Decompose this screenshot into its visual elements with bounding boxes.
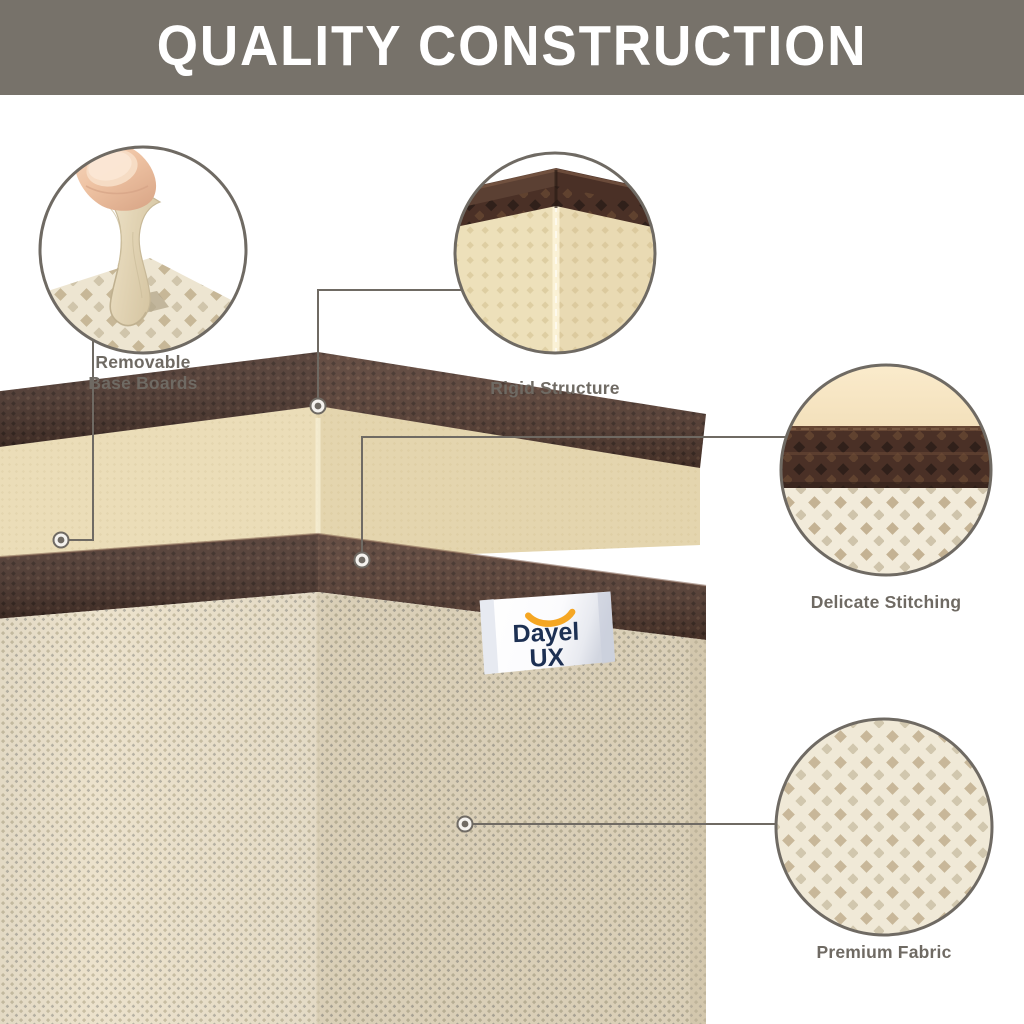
product-illustration <box>0 0 1024 1024</box>
callout-label-premium-fabric: Premium Fabric <box>764 942 1004 963</box>
callout-circle-removable-base-boards <box>20 139 270 378</box>
callout-label-delicate-stitching: Delicate Stitching <box>766 592 1006 613</box>
brand-label-tag: Dayel UX <box>475 589 617 678</box>
storage-bin <box>0 352 706 1024</box>
marker-delicate-stitching <box>355 553 370 568</box>
callout-circle-rigid-structure <box>432 153 684 380</box>
infographic-canvas: QUALITY CONSTRUCTION <box>0 0 1024 1024</box>
brand-name-line2: UX <box>529 643 565 672</box>
marker-removable-base-boards <box>54 533 69 548</box>
callout-circle-premium-fabric <box>770 713 1000 943</box>
marker-premium-fabric <box>458 817 473 832</box>
callout-label-rigid-structure: Rigid Structure <box>435 378 675 399</box>
bin-right-edge-shade <box>690 638 706 1024</box>
callout-label-removable-base-boards: Removable Base Boards <box>43 352 243 393</box>
marker-rigid-structure <box>311 399 326 414</box>
bin-front-left-shade <box>0 592 318 1024</box>
callout-circle-delicate-stitching <box>775 360 1001 583</box>
